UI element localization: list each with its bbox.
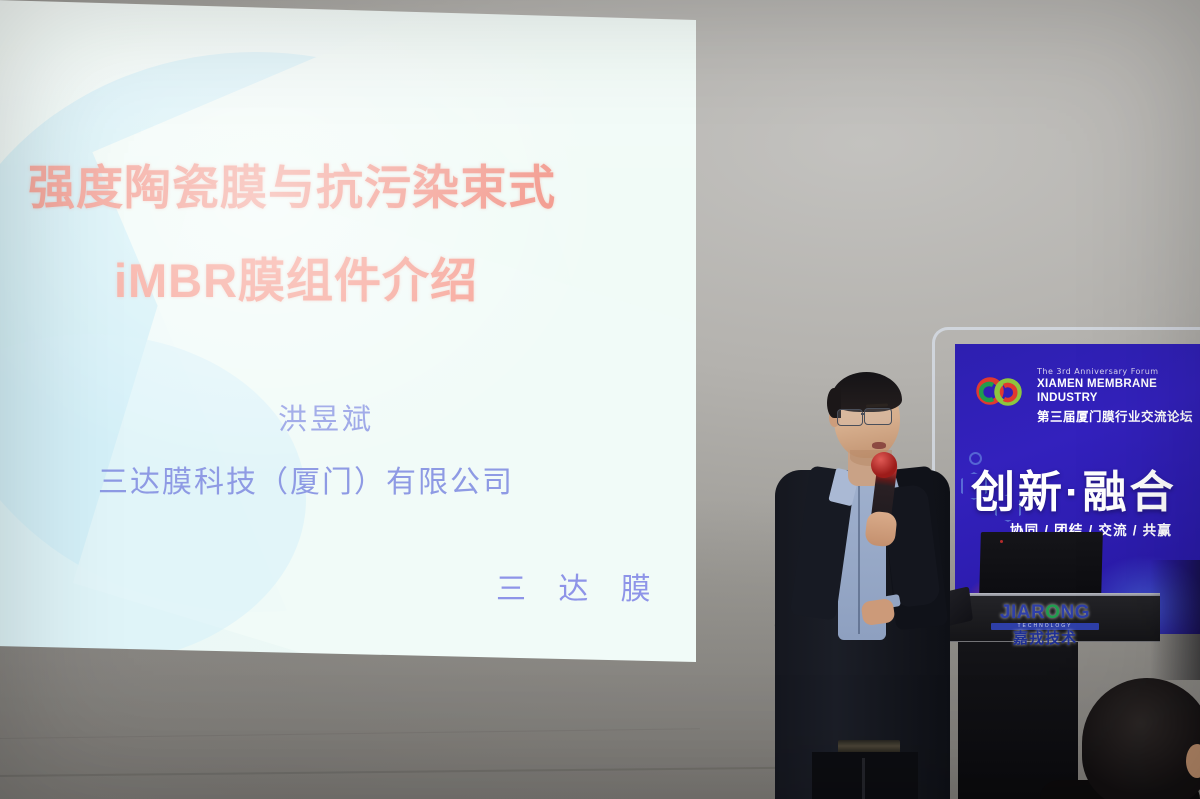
glasses-bridge-icon [861, 413, 865, 415]
glasses-lens-right-icon [864, 408, 892, 425]
speaker-trouser-seam [862, 758, 865, 799]
forum-logo-icon [973, 370, 1029, 416]
podium-logo-tagline: TECHNOLOGY [991, 623, 1099, 630]
banner-header-en-small: The 3rd Anniversary Forum [1037, 367, 1159, 376]
slide-surface: 强度陶瓷膜与抗污染束式 iMBR膜组件介绍 洪昱斌 三达膜科技（厦门）有限公司 … [0, 0, 702, 670]
slide-content: 强度陶瓷膜与抗污染束式 iMBR膜组件介绍 洪昱斌 三达膜科技（厦门）有限公司 … [0, 0, 702, 670]
slide-company-name: 三达膜科技（厦门）有限公司 [0, 457, 626, 501]
podium-logo-cn: 嘉戎技术 [985, 631, 1105, 647]
slide-brand-mark: 三 达 膜 [496, 564, 663, 608]
banner-header-en-line-2: INDUSTRY [1037, 392, 1098, 404]
laptop-indicator-icon [1000, 540, 1003, 543]
corner-shadow [1150, 560, 1200, 680]
speaker-shirt-placket [858, 484, 860, 634]
speaker-mouth [872, 442, 886, 449]
banner-header-cn: 第三届厦门膜行业交流论坛 [1037, 406, 1193, 425]
podium-logo-en: JIARONG [985, 603, 1105, 622]
laptop-screen-back [979, 532, 1103, 598]
banner-main-slogan: 创新·融合 [971, 456, 1197, 520]
projected-slide: 强度陶瓷膜与抗污染束式 iMBR膜组件介绍 洪昱斌 三达膜科技（厦门）有限公司 … [0, 0, 702, 670]
podium-body [958, 642, 1078, 799]
podium-logo: JIARONG TECHNOLOGY 嘉戎技术 [985, 603, 1105, 643]
glasses-lens-left-icon [837, 409, 863, 426]
speaker-trousers [812, 752, 918, 799]
slide-title-line-2: iMBR膜组件介绍 [0, 242, 606, 311]
slide-title-line-1: 强度陶瓷膜与抗污染束式 [0, 149, 602, 218]
conference-photo: 强度陶瓷膜与抗污染束式 iMBR膜组件介绍 洪昱斌 三达膜科技（厦门）有限公司 … [0, 0, 1200, 799]
speaker-hand-holding-mic [864, 511, 897, 548]
banner-header-en-line-1: XIAMEN MEMBRANE [1037, 378, 1157, 390]
podium-logo-en-text: JIARONG [1000, 602, 1090, 623]
slide-presenter-name: 洪昱斌 [0, 396, 656, 438]
